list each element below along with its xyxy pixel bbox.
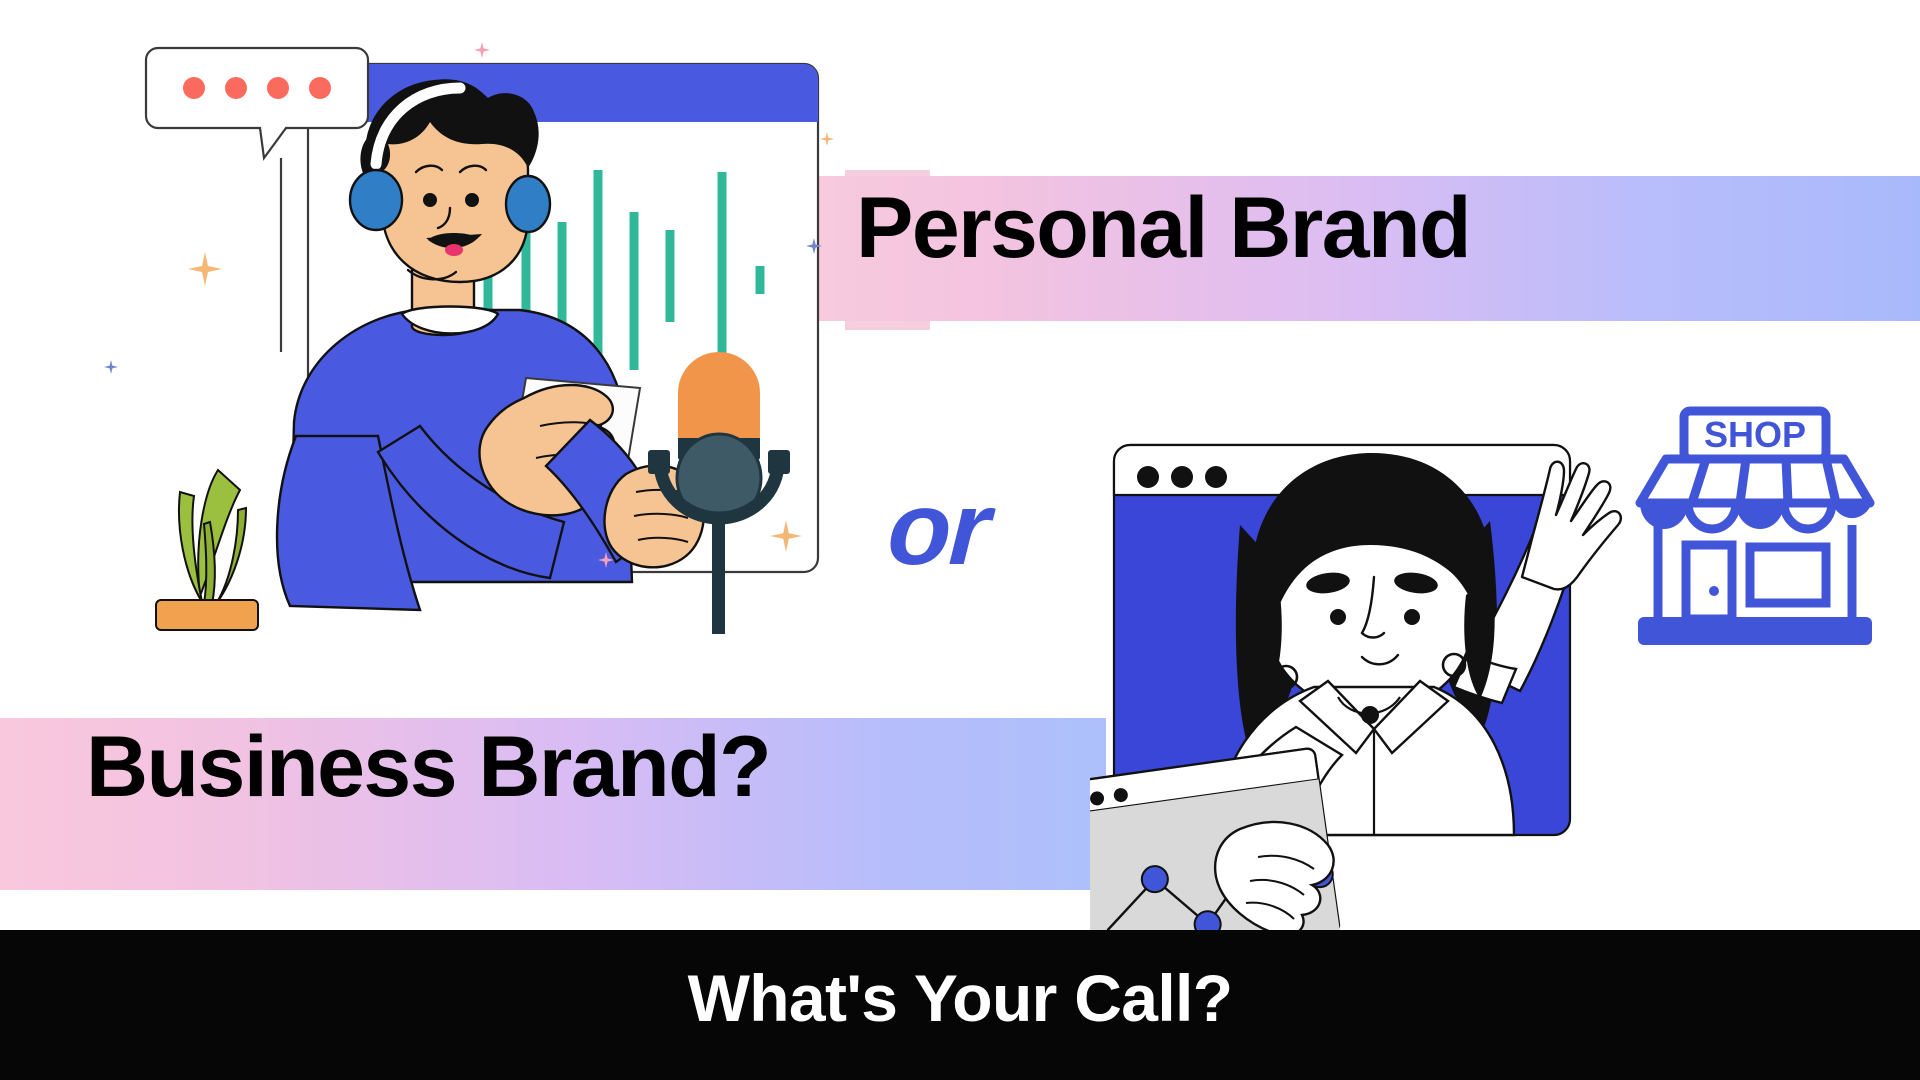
- headline-business-brand: Business Brand?: [86, 724, 770, 810]
- headline-personal-brand: Personal Brand: [856, 185, 1470, 271]
- waving-businesswoman-illustration: [1090, 415, 1630, 935]
- shop-sign-label: SHOP: [1704, 414, 1806, 455]
- footer-cta-text: What's Your Call?: [0, 960, 1920, 1036]
- podcast-host-illustration: [120, 22, 840, 662]
- storefront-shop-icon: SHOP: [1630, 395, 1880, 655]
- poster-canvas: SHOP: [0, 0, 1920, 1080]
- headline-connector-or: or: [885, 470, 991, 589]
- sparkle-orange-far: [820, 132, 834, 146]
- sparkle-blue-small: [806, 238, 822, 254]
- sparkle-blue-tiny: [104, 360, 118, 374]
- potted-plant: [156, 470, 258, 630]
- sparkle-pink-mid: [598, 552, 614, 568]
- sparkle-orange-left: [188, 252, 222, 286]
- sparkle-pink-small: [474, 42, 490, 58]
- sparkle-orange-right: [770, 520, 802, 552]
